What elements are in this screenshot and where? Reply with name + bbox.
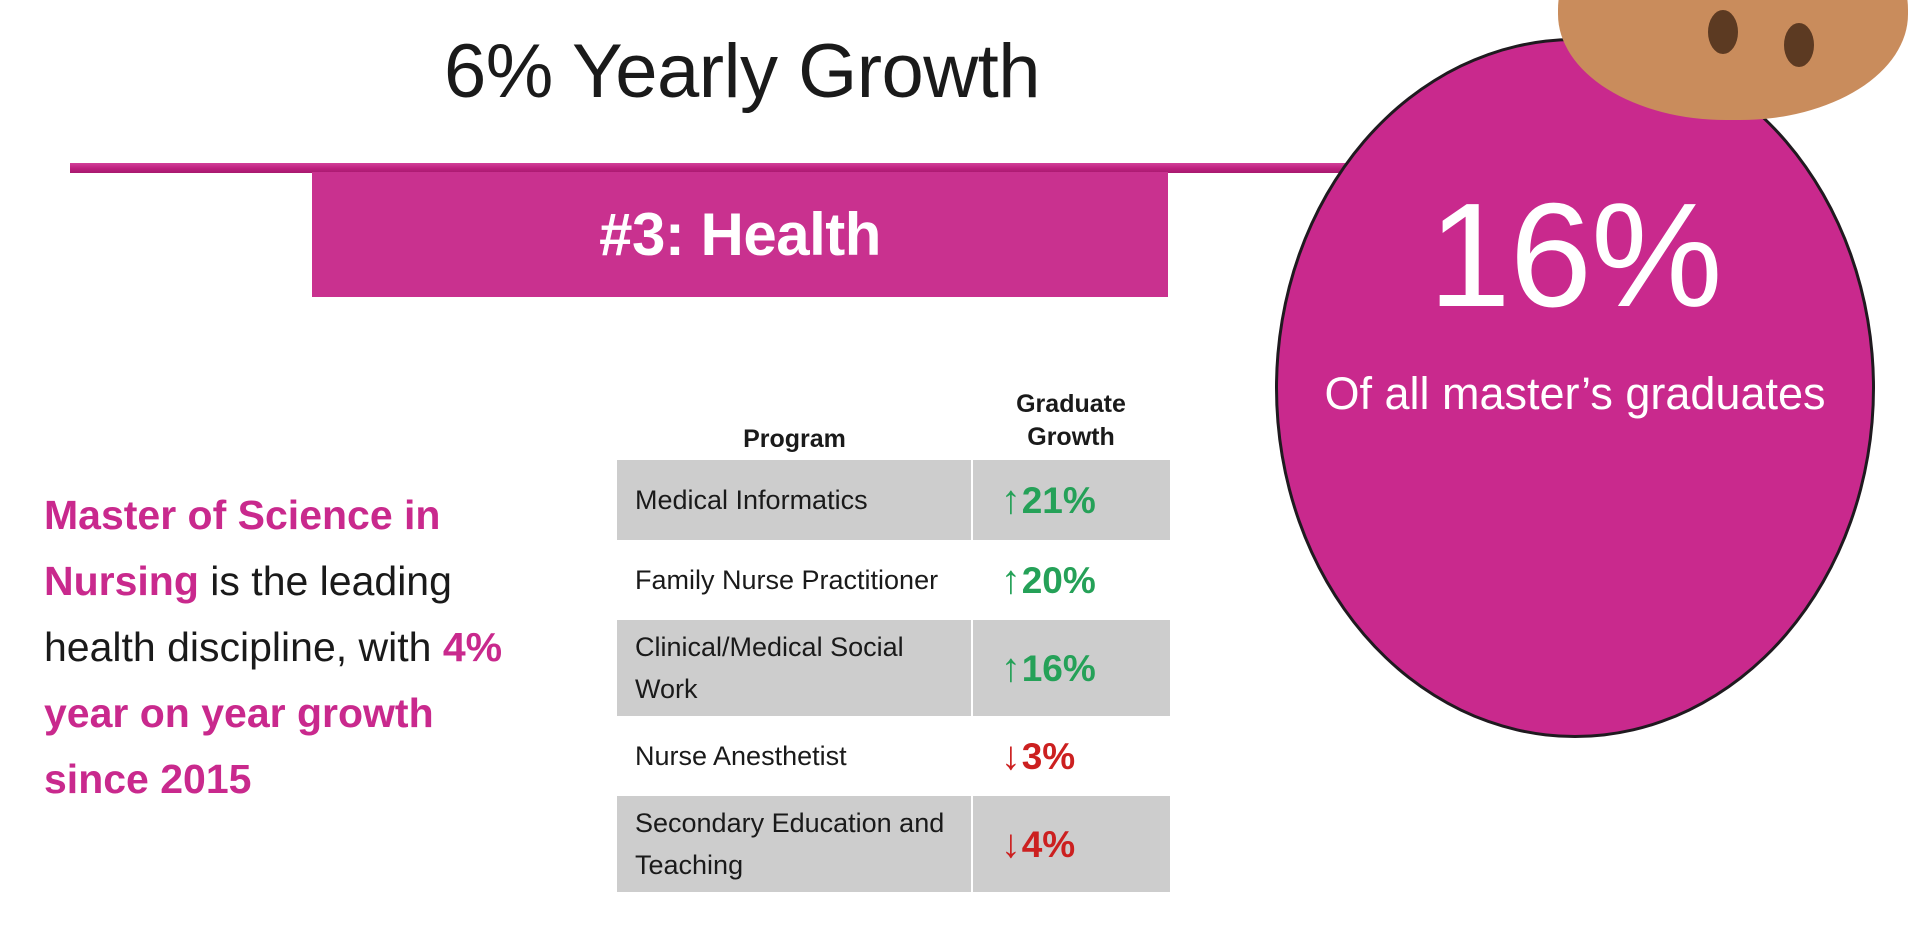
program-cell: Nurse Anesthetist xyxy=(617,716,971,796)
program-cell: Family Nurse Practitioner xyxy=(617,540,971,620)
table-row: Clinical/Medical Social Work↑16% xyxy=(617,620,1170,716)
up-arrow-icon: ↑ xyxy=(1001,560,1021,600)
up-arrow-icon: ↑ xyxy=(1001,480,1021,520)
stat-circle-caption: Of all master’s graduates xyxy=(1324,367,1825,421)
stat-circle-value: 16% xyxy=(1428,181,1721,331)
stat-circle: 16% Of all master’s graduates xyxy=(1275,38,1875,738)
section-banner-label: #3: Health xyxy=(599,205,881,265)
table-body: Medical Informatics↑21%Family Nurse Prac… xyxy=(617,460,1170,892)
table-row: Nurse Anesthetist↓3% xyxy=(617,716,1170,796)
growth-cell: ↓4% xyxy=(973,796,1170,892)
growth-percent: 21% xyxy=(1022,482,1096,519)
table-row: Medical Informatics↑21% xyxy=(617,460,1170,540)
growth-percent: 4% xyxy=(1022,826,1075,863)
section-banner: #3: Health xyxy=(312,172,1168,297)
person-eye-right-icon xyxy=(1784,23,1814,67)
table-row: Secondary Education and Teaching↓4% xyxy=(617,796,1170,892)
column-header-program: Program xyxy=(617,425,972,460)
growth-cell: ↑16% xyxy=(973,620,1170,716)
table-row: Family Nurse Practitioner↑20% xyxy=(617,540,1170,620)
growth-percent: 3% xyxy=(1022,738,1075,775)
growth-value: ↑20% xyxy=(973,560,1096,600)
column-header-graduate-growth: Graduate Growth xyxy=(972,388,1170,460)
growth-value: ↓4% xyxy=(973,824,1075,864)
growth-percent: 16% xyxy=(1022,650,1096,687)
person-eye-left-icon xyxy=(1708,10,1738,54)
growth-value: ↑21% xyxy=(973,480,1096,520)
down-arrow-icon: ↓ xyxy=(1001,736,1021,776)
column-header-graduate-growth-line1: Graduate xyxy=(972,388,1170,421)
growth-cell: ↓3% xyxy=(973,716,1170,796)
slide-canvas: 6% Yearly Growth #3: Health Master of Sc… xyxy=(0,0,1911,948)
growth-cell: ↑21% xyxy=(973,460,1170,540)
lead-paragraph: Master of Science in Nursing is the lead… xyxy=(44,482,514,812)
table-header-row: Program Graduate Growth xyxy=(617,372,1170,460)
growth-cell: ↑20% xyxy=(973,540,1170,620)
program-cell: Medical Informatics xyxy=(617,460,971,540)
down-arrow-icon: ↓ xyxy=(1001,824,1021,864)
growth-percent: 20% xyxy=(1022,562,1096,599)
growth-table: Program Graduate Growth Medical Informat… xyxy=(617,372,1170,892)
program-cell: Clinical/Medical Social Work xyxy=(617,620,971,716)
growth-value: ↓3% xyxy=(973,736,1075,776)
page-title: 6% Yearly Growth xyxy=(312,28,1172,116)
growth-value: ↑16% xyxy=(973,648,1096,688)
program-cell: Secondary Education and Teaching xyxy=(617,796,971,892)
up-arrow-icon: ↑ xyxy=(1001,648,1021,688)
column-header-graduate-growth-line2: Growth xyxy=(972,421,1170,454)
